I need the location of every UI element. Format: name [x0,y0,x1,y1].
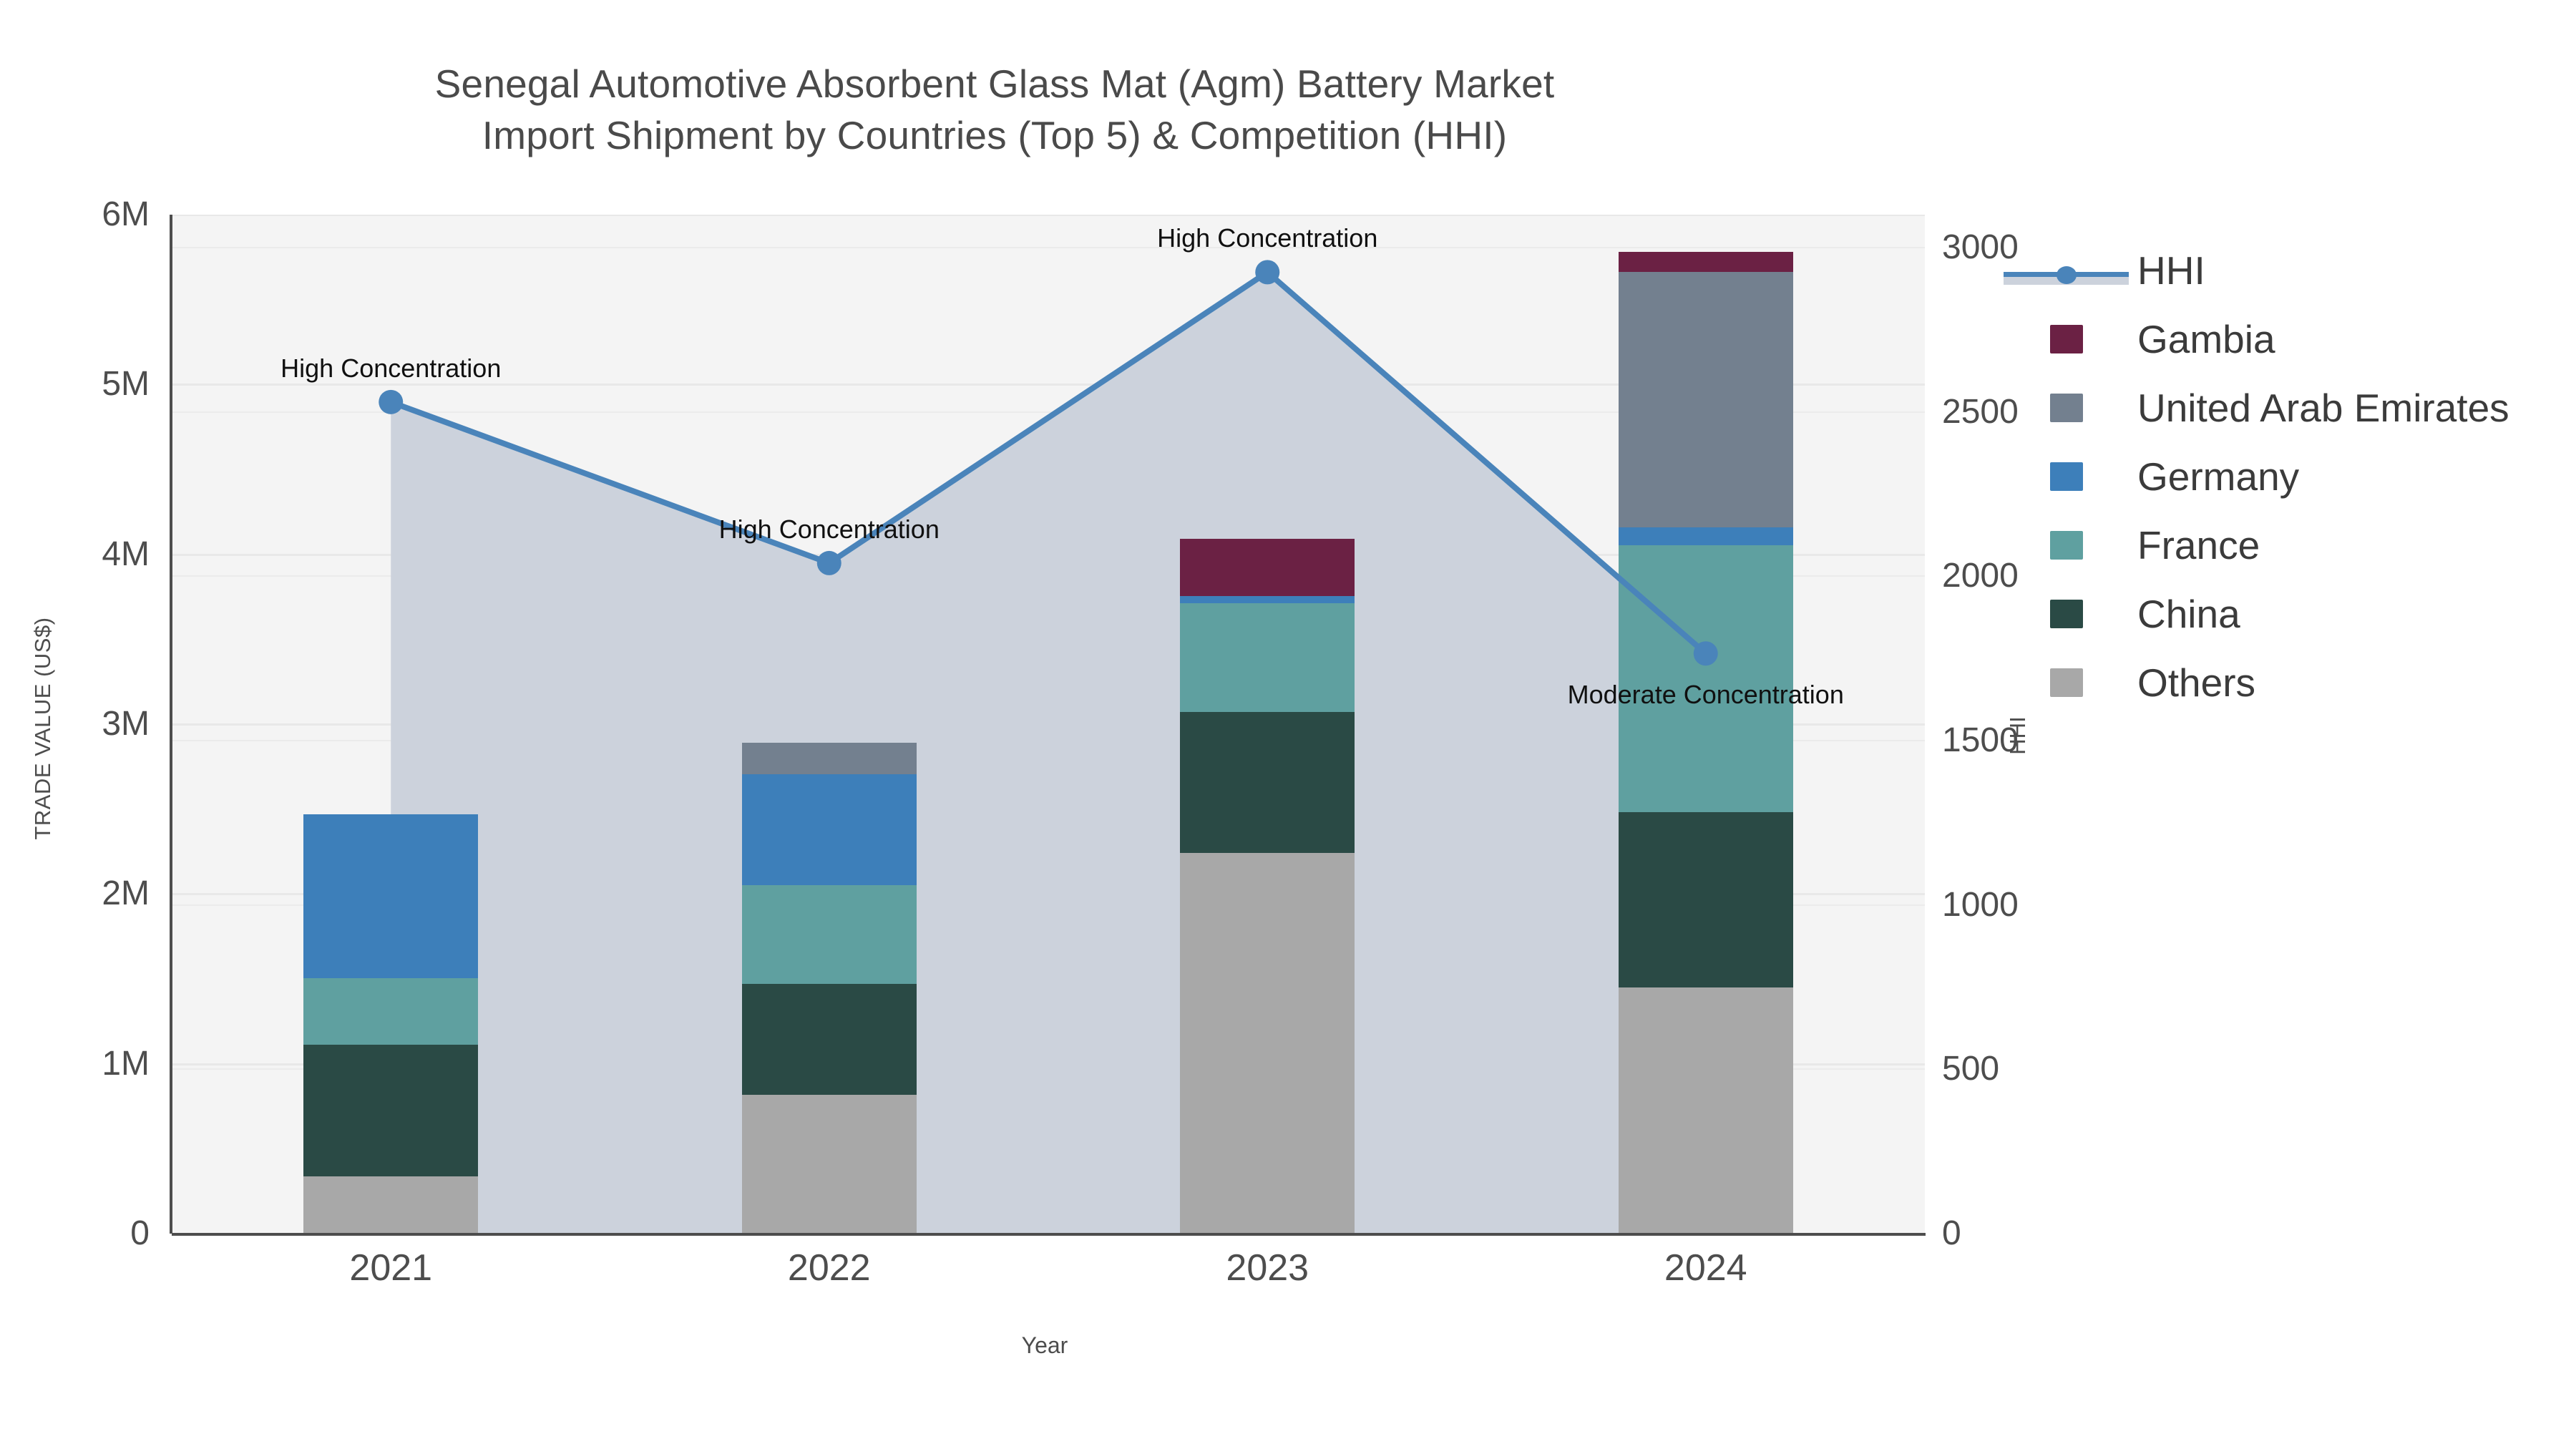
y-tick-0: 0 [0,1216,150,1251]
bar-segment-france-2023[interactable] [1180,603,1355,712]
bar-segment-united-arab-emirates-2022[interactable] [742,743,917,774]
legend-item-germany[interactable]: Germany [2004,442,2509,511]
y-tick-6M: 6M [0,197,150,232]
bar-segment-france-2021[interactable] [303,978,478,1045]
bar-segment-united-arab-emirates-2024[interactable] [1619,272,1793,527]
x-tick-2023: 2023 [1153,1249,1382,1287]
bar-segment-china-2021[interactable] [303,1045,478,1176]
bar-segment-china-2022[interactable] [742,984,917,1095]
legend-item-others[interactable]: Others [2004,648,2509,717]
legend-swatch-gambia-icon [2004,325,2129,353]
bar-2021[interactable] [303,814,478,1234]
swatch-germany [2050,462,2083,491]
annotation-2022: High Concentration [579,517,1080,542]
y-tick-2M: 2M [0,877,150,911]
legend: HHIGambiaUnited Arab EmiratesGermanyFran… [2004,236,2509,717]
y2-tick-1500: 1500 [1942,723,2171,758]
bar-segment-germany-2021[interactable] [303,814,478,978]
bar-segment-gambia-2023[interactable] [1180,539,1355,596]
x-tick-2022: 2022 [715,1249,944,1287]
legend-swatch-united-arab-emirates-icon [2004,394,2129,422]
bar-segment-others-2024[interactable] [1619,987,1793,1234]
swatch-china [2050,600,2083,628]
legend-label-germany: Germany [2137,457,2299,497]
bar-segment-gambia-2024[interactable] [1619,252,1793,272]
legend-swatch-others-icon [2004,668,2129,697]
legend-swatch-france-icon [2004,531,2129,560]
chart-canvas: Senegal Automotive Absorbent Glass Mat (… [0,0,2576,1449]
y-axis-title: TRADE VALUE (US$) [30,578,56,879]
bar-segment-others-2021[interactable] [303,1176,478,1234]
legend-label-gambia: Gambia [2137,320,2275,359]
y-tick-1M: 1M [0,1047,150,1081]
y-tick-3M: 3M [0,707,150,741]
swatch-gambia [2050,325,2083,353]
y2-tick-0: 0 [1942,1216,2171,1251]
x-axis-title: Year [930,1332,1159,1359]
bar-segment-germany-2024[interactable] [1619,527,1793,545]
legend-item-france[interactable]: France [2004,511,2509,580]
y-tick-5M: 5M [0,367,150,401]
bar-2022[interactable] [742,743,917,1234]
swatch-others [2050,668,2083,697]
bar-segment-france-2022[interactable] [742,885,917,984]
legend-line-marker-icon [2004,256,2129,285]
y-tick-4M: 4M [0,537,150,572]
legend-label-china: China [2137,595,2240,634]
legend-item-hhi[interactable]: HHI [2004,236,2509,305]
x-tick-2024: 2024 [1591,1249,1820,1287]
y2-tick-500: 500 [1942,1052,2171,1086]
chart-title: Senegal Automotive Absorbent Glass Mat (… [0,59,1989,161]
y-axis-spine [170,215,172,1234]
chart-title-line-1: Senegal Automotive Absorbent Glass Mat (… [0,59,1989,110]
legend-swatch-china-icon [2004,600,2129,628]
legend-label-united-arab-emirates: United Arab Emirates [2137,389,2509,428]
swatch-france [2050,531,2083,560]
bar-segment-others-2022[interactable] [742,1095,917,1234]
legend-label-hhi: HHI [2137,251,2205,291]
gridline-left-6M [172,215,1925,216]
annotation-2024: Moderate Concentration [1455,682,1956,708]
annotation-2023: High Concentration [1017,225,1518,251]
chart-title-line-2: Import Shipment by Countries (Top 5) & C… [0,110,1989,162]
legend-label-france: France [2137,526,2260,565]
annotation-2021: High Concentration [140,356,641,381]
bar-2023[interactable] [1180,539,1355,1234]
legend-item-gambia[interactable]: Gambia [2004,305,2509,374]
x-axis-spine [172,1233,1926,1236]
swatch-united-arab-emirates [2050,394,2083,422]
bar-segment-others-2023[interactable] [1180,853,1355,1234]
legend-item-china[interactable]: China [2004,580,2509,648]
legend-item-united-arab-emirates[interactable]: United Arab Emirates [2004,374,2509,442]
y2-tick-1000: 1000 [1942,888,2171,922]
legend-label-others: Others [2137,663,2255,703]
bar-segment-germany-2022[interactable] [742,774,917,885]
legend-swatch-germany-icon [2004,462,2129,491]
bar-segment-china-2023[interactable] [1180,712,1355,853]
bar-segment-germany-2023[interactable] [1180,596,1355,603]
bar-2024[interactable] [1619,252,1793,1234]
bar-segment-france-2024[interactable] [1619,545,1793,812]
bar-segment-china-2024[interactable] [1619,812,1793,987]
x-tick-2021: 2021 [276,1249,505,1287]
